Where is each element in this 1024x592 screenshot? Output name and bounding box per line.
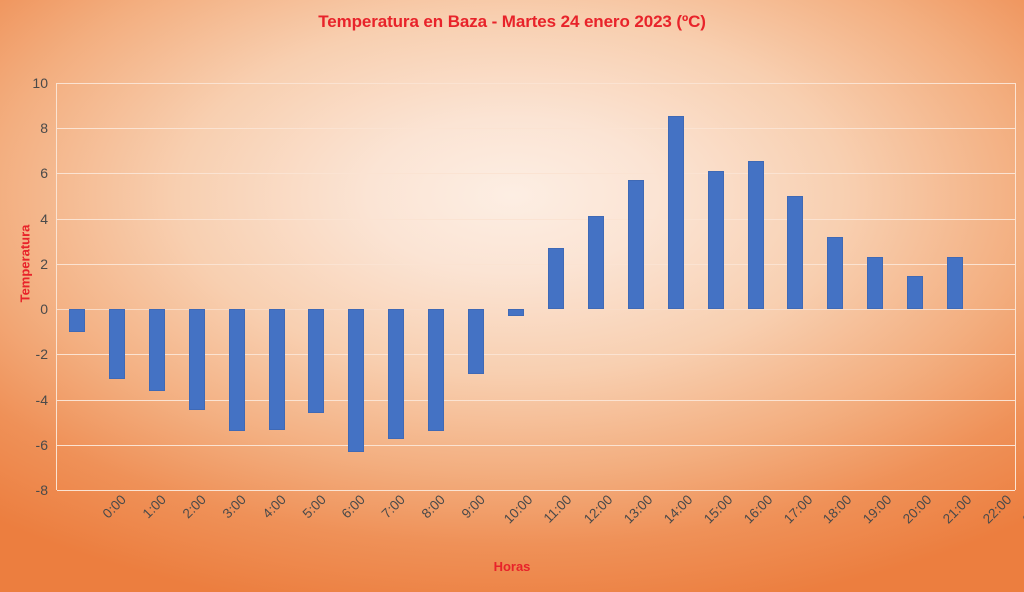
bar[interactable] <box>348 309 364 451</box>
x-tick-label: 16:00 <box>741 492 776 527</box>
x-tick-label: 5:00 <box>299 492 328 521</box>
x-tick-label: 18:00 <box>820 492 855 527</box>
bar[interactable] <box>508 309 524 316</box>
bar[interactable] <box>468 309 484 373</box>
bar[interactable] <box>229 309 245 431</box>
x-tick-label: 8:00 <box>419 492 448 521</box>
x-axis-ticks: 0:001:002:003:004:005:006:007:008:009:00… <box>56 492 1016 552</box>
bar[interactable] <box>308 309 324 413</box>
bar[interactable] <box>109 309 125 379</box>
bar[interactable] <box>388 309 404 439</box>
chart-title: Temperatura en Baza - Martes 24 enero 20… <box>0 12 1024 32</box>
y-tick-label: 10 <box>32 75 48 91</box>
y-tick-label: 8 <box>40 120 48 136</box>
bar[interactable] <box>947 257 963 309</box>
x-tick-label: 12:00 <box>581 492 616 527</box>
bar[interactable] <box>907 276 923 309</box>
bar[interactable] <box>748 161 764 309</box>
x-tick-label: 14:00 <box>661 492 696 527</box>
bar[interactable] <box>189 309 205 410</box>
x-tick-label: 11:00 <box>541 492 575 526</box>
x-tick-label: 7:00 <box>379 492 408 521</box>
x-tick-label: 23:00 <box>1020 492 1024 527</box>
bar[interactable] <box>668 116 684 309</box>
chart-container: Temperatura en Baza - Martes 24 enero 20… <box>0 0 1024 592</box>
x-tick-label: 10:00 <box>501 492 536 527</box>
x-tick-label: 3:00 <box>219 492 248 521</box>
x-tick-label: 13:00 <box>621 492 656 527</box>
x-tick-label: 21:00 <box>940 492 975 527</box>
plot-area: 1086420-2-4-6-8 <box>56 83 1016 490</box>
y-axis-title: Temperatura <box>18 204 33 324</box>
bar[interactable] <box>548 248 564 309</box>
bar[interactable] <box>827 237 843 309</box>
bar[interactable] <box>708 171 724 309</box>
bar[interactable] <box>588 216 604 309</box>
y-tick-label: 0 <box>40 301 48 317</box>
x-tick-label: 17:00 <box>780 492 815 527</box>
bar[interactable] <box>149 309 165 390</box>
bar[interactable] <box>428 309 444 431</box>
x-axis-title: Horas <box>0 559 1024 574</box>
bar[interactable] <box>269 309 285 430</box>
x-tick-label: 6:00 <box>339 492 368 521</box>
x-tick-label: 20:00 <box>900 492 935 527</box>
x-tick-label: 22:00 <box>980 492 1015 527</box>
y-tick-label: 6 <box>40 165 48 181</box>
bar[interactable] <box>867 257 883 309</box>
x-tick-label: 4:00 <box>259 492 288 521</box>
bar[interactable] <box>628 180 644 309</box>
x-tick-label: 15:00 <box>701 492 736 527</box>
y-tick-label: -8 <box>36 482 48 498</box>
bar[interactable] <box>787 196 803 309</box>
x-tick-label: 19:00 <box>860 492 895 527</box>
y-tick-label: -6 <box>36 437 48 453</box>
gridline <box>57 490 1015 491</box>
x-tick-label: 9:00 <box>459 492 488 521</box>
bar-series <box>57 83 1015 490</box>
y-tick-label: -4 <box>36 392 48 408</box>
x-tick-label: 0:00 <box>100 492 129 521</box>
y-tick-label: 4 <box>40 211 48 227</box>
y-tick-label: 2 <box>40 256 48 272</box>
bar[interactable] <box>69 309 85 332</box>
x-tick-label: 2:00 <box>179 492 208 521</box>
x-tick-label: 1:00 <box>140 492 169 521</box>
y-tick-label: -2 <box>36 346 48 362</box>
